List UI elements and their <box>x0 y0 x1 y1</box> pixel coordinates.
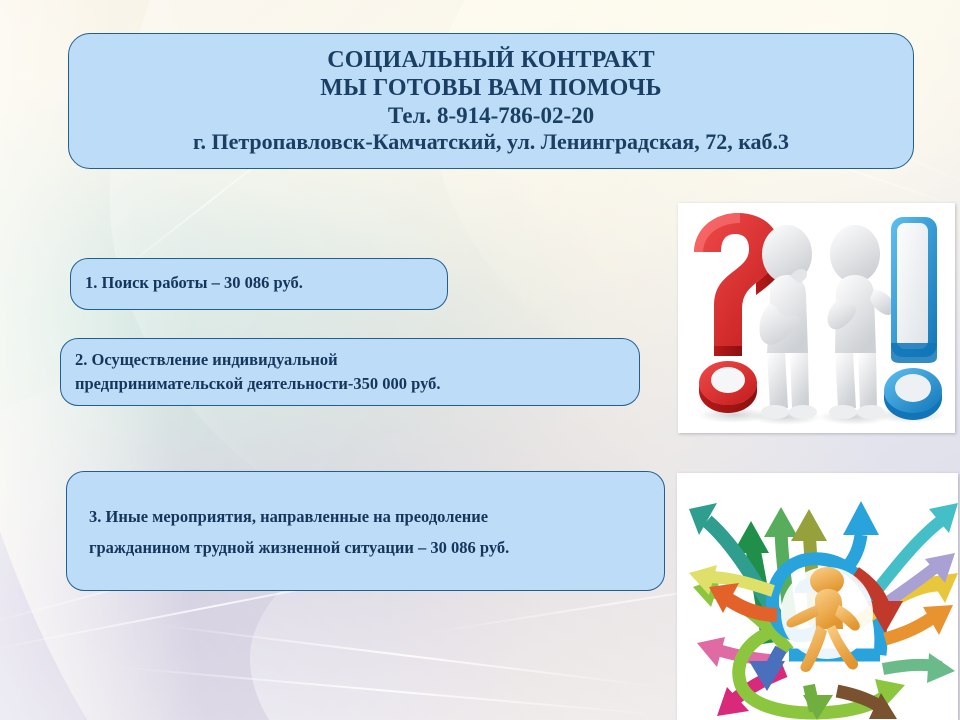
header-subtitle-line: МЫ ГОТОВЫ ВАМ ПОМОЧЬ <box>320 75 662 102</box>
item-box-3: 3. Иные мероприятия, направленные на пре… <box>66 471 665 591</box>
item-2-text: 2. Осуществление индивидуальной предприн… <box>75 348 631 397</box>
item-box-2: 2. Осуществление индивидуальной предприн… <box>60 338 640 406</box>
exclamation-mark-glyph <box>884 217 942 420</box>
item-3-line-2: гражданином трудной жизненной ситуации –… <box>89 533 655 564</box>
slide-canvas: СОЦИАЛЬНЫЙ КОНТРАКТ МЫ ГОТОВЫ ВАМ ПОМОЧЬ… <box>0 0 960 720</box>
item-box-1: 1. Поиск работы – 30 086 руб. <box>70 258 448 310</box>
question-exclamation-figures-image <box>678 203 955 433</box>
item-3-text: 3. Иные мероприятия, направленные на пре… <box>89 502 655 563</box>
item-1-text: 1. Поиск работы – 30 086 руб. <box>85 271 303 295</box>
header-title-line: СОЦИАЛЬНЫЙ КОНТРАКТ <box>327 47 655 74</box>
item-3-line-1: 3. Иные мероприятия, направленные на пре… <box>89 502 655 533</box>
item-2-line-1: 2. Осуществление индивидуальной <box>75 348 631 372</box>
header-phone-line: Тел. 8-914-786-02-20 <box>388 103 594 129</box>
header-banner: СОЦИАЛЬНЫЙ КОНТРАКТ МЫ ГОТОВЫ ВАМ ПОМОЧЬ… <box>68 33 914 169</box>
many-arrows-choices-image: .ar{fill:none;stroke-linecap:butt;} <box>677 473 958 720</box>
item-2-line-2: предпринимательской деятельности-350 000… <box>75 372 631 396</box>
header-address-line: г. Петропавловск-Камчатский, ул. Ленингр… <box>193 130 789 155</box>
